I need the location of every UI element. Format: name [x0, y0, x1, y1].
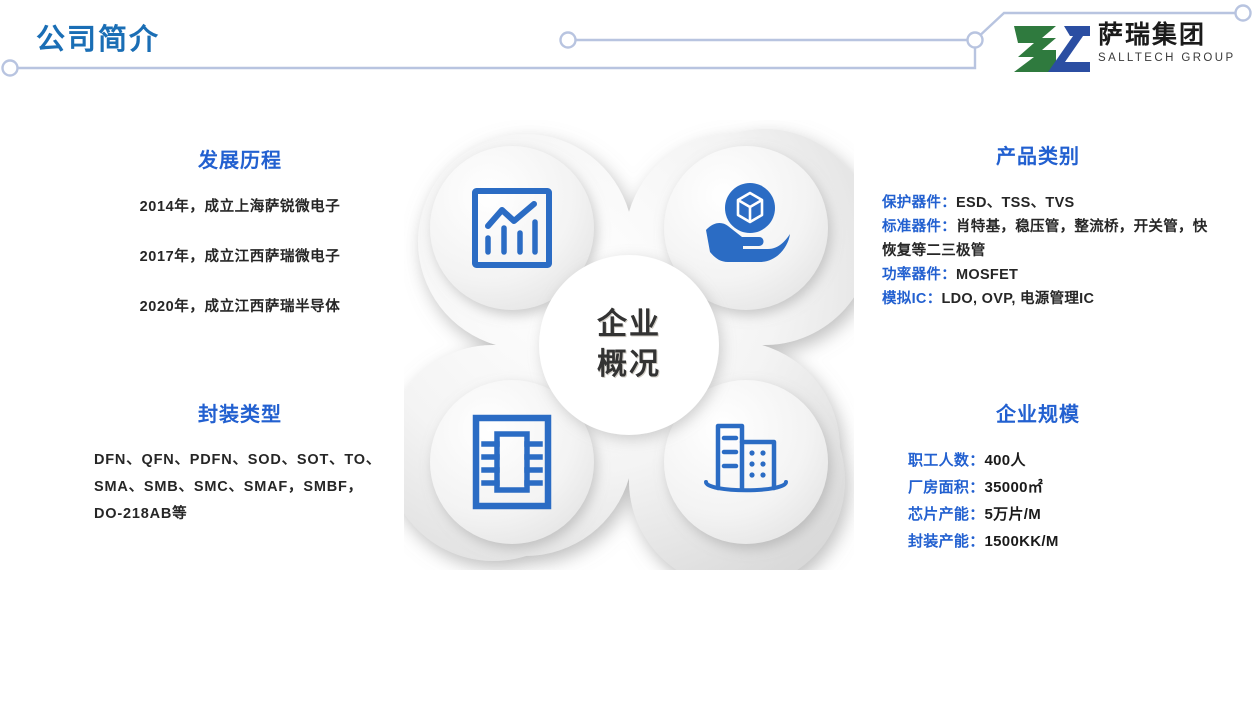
scale-value: 1500KK/M — [985, 533, 1059, 550]
section-title-packaging: 封装类型 — [70, 398, 410, 427]
company-logo: 萨瑞集团 SALLTECH GROUP — [1012, 18, 1244, 80]
deco-node-mid — [561, 33, 576, 48]
history-block: 发展历程 2014年，成立上海萨锐微电子 2017年，成立江西萨瑞微电子 202… — [70, 130, 410, 345]
history-item: 2017年，成立江西萨瑞微电子 — [70, 245, 410, 266]
logo-name-cn: 萨瑞集团 — [1098, 20, 1244, 50]
product-value: ESD、TSS、TVS — [956, 195, 1075, 211]
scale-label: 厂房面积： — [908, 479, 985, 496]
packaging-block: 封装类型 DFN、QFN、PDFN、SOD、SOT、TO、SMA、SMB、SMC… — [70, 398, 410, 528]
logo-name-en: SALLTECH GROUP — [1098, 51, 1244, 66]
section-title-products: 产品类别 — [868, 140, 1208, 169]
scale-row: 职工人数：400人 — [908, 447, 1208, 474]
deco-node-left — [3, 61, 18, 76]
scale-row: 封装产能：1500KK/M — [908, 528, 1208, 555]
logo-text: 萨瑞集团 SALLTECH GROUP — [1098, 20, 1244, 66]
product-row: 保护器件：ESD、TSS、TVS — [882, 191, 1208, 215]
section-title-scale: 企业规模 — [868, 398, 1208, 427]
scale-block: 企业规模 职工人数：400人 厂房面积：35000㎡ 芯片产能：5万片/M 封装… — [868, 398, 1208, 555]
slide-canvas: 公司简介 — [0, 0, 1257, 705]
history-item: 2014年，成立上海萨锐微电子 — [70, 195, 410, 216]
product-label: 标准器件： — [882, 219, 956, 235]
history-item: 2020年，成立江西萨瑞半导体 — [70, 295, 410, 316]
slide-header: 公司简介 — [0, 0, 1257, 100]
scale-label: 芯片产能： — [908, 506, 985, 523]
scale-label: 封装产能： — [908, 533, 985, 550]
salltech-sz-logo-icon — [1012, 24, 1090, 74]
product-label: 模拟IC： — [882, 291, 942, 307]
packaging-text: DFN、QFN、PDFN、SOD、SOT、TO、SMA、SMB、SMC、SMAF… — [70, 447, 410, 528]
center-circle — [539, 255, 719, 435]
scale-value: 5万片/M — [985, 506, 1042, 523]
history-list: 2014年，成立上海萨锐微电子 2017年，成立江西萨瑞微电子 2020年，成立… — [70, 195, 410, 316]
company-overview-diagram: 企业 概况 — [404, 120, 854, 570]
product-value: MOSFET — [956, 267, 1018, 283]
deco-node-junction — [968, 33, 983, 48]
product-value: LDO, OVP, 电源管理IC — [942, 291, 1095, 307]
product-row: 功率器件：MOSFET — [882, 263, 1208, 287]
product-label: 保护器件： — [882, 195, 956, 211]
scale-row: 厂房面积：35000㎡ — [908, 474, 1208, 501]
scale-list: 职工人数：400人 厂房面积：35000㎡ 芯片产能：5万片/M 封装产能：15… — [868, 447, 1208, 555]
product-label: 功率器件： — [882, 267, 956, 283]
section-title-history: 发展历程 — [70, 144, 410, 173]
product-row: 标准器件：肖特基，稳压管，整流桥，开关管，快恢复等二三极管 — [882, 215, 1208, 263]
products-block: 产品类别 保护器件：ESD、TSS、TVS 标准器件：肖特基，稳压管，整流桥，开… — [868, 130, 1208, 311]
scale-value: 35000㎡ — [985, 479, 1044, 496]
products-list: 保护器件：ESD、TSS、TVS 标准器件：肖特基，稳压管，整流桥，开关管，快恢… — [868, 191, 1208, 311]
scale-row: 芯片产能：5万片/M — [908, 501, 1208, 528]
scale-value: 400人 — [985, 452, 1026, 469]
product-row: 模拟IC：LDO, OVP, 电源管理IC — [882, 287, 1208, 311]
scale-label: 职工人数： — [908, 452, 985, 469]
